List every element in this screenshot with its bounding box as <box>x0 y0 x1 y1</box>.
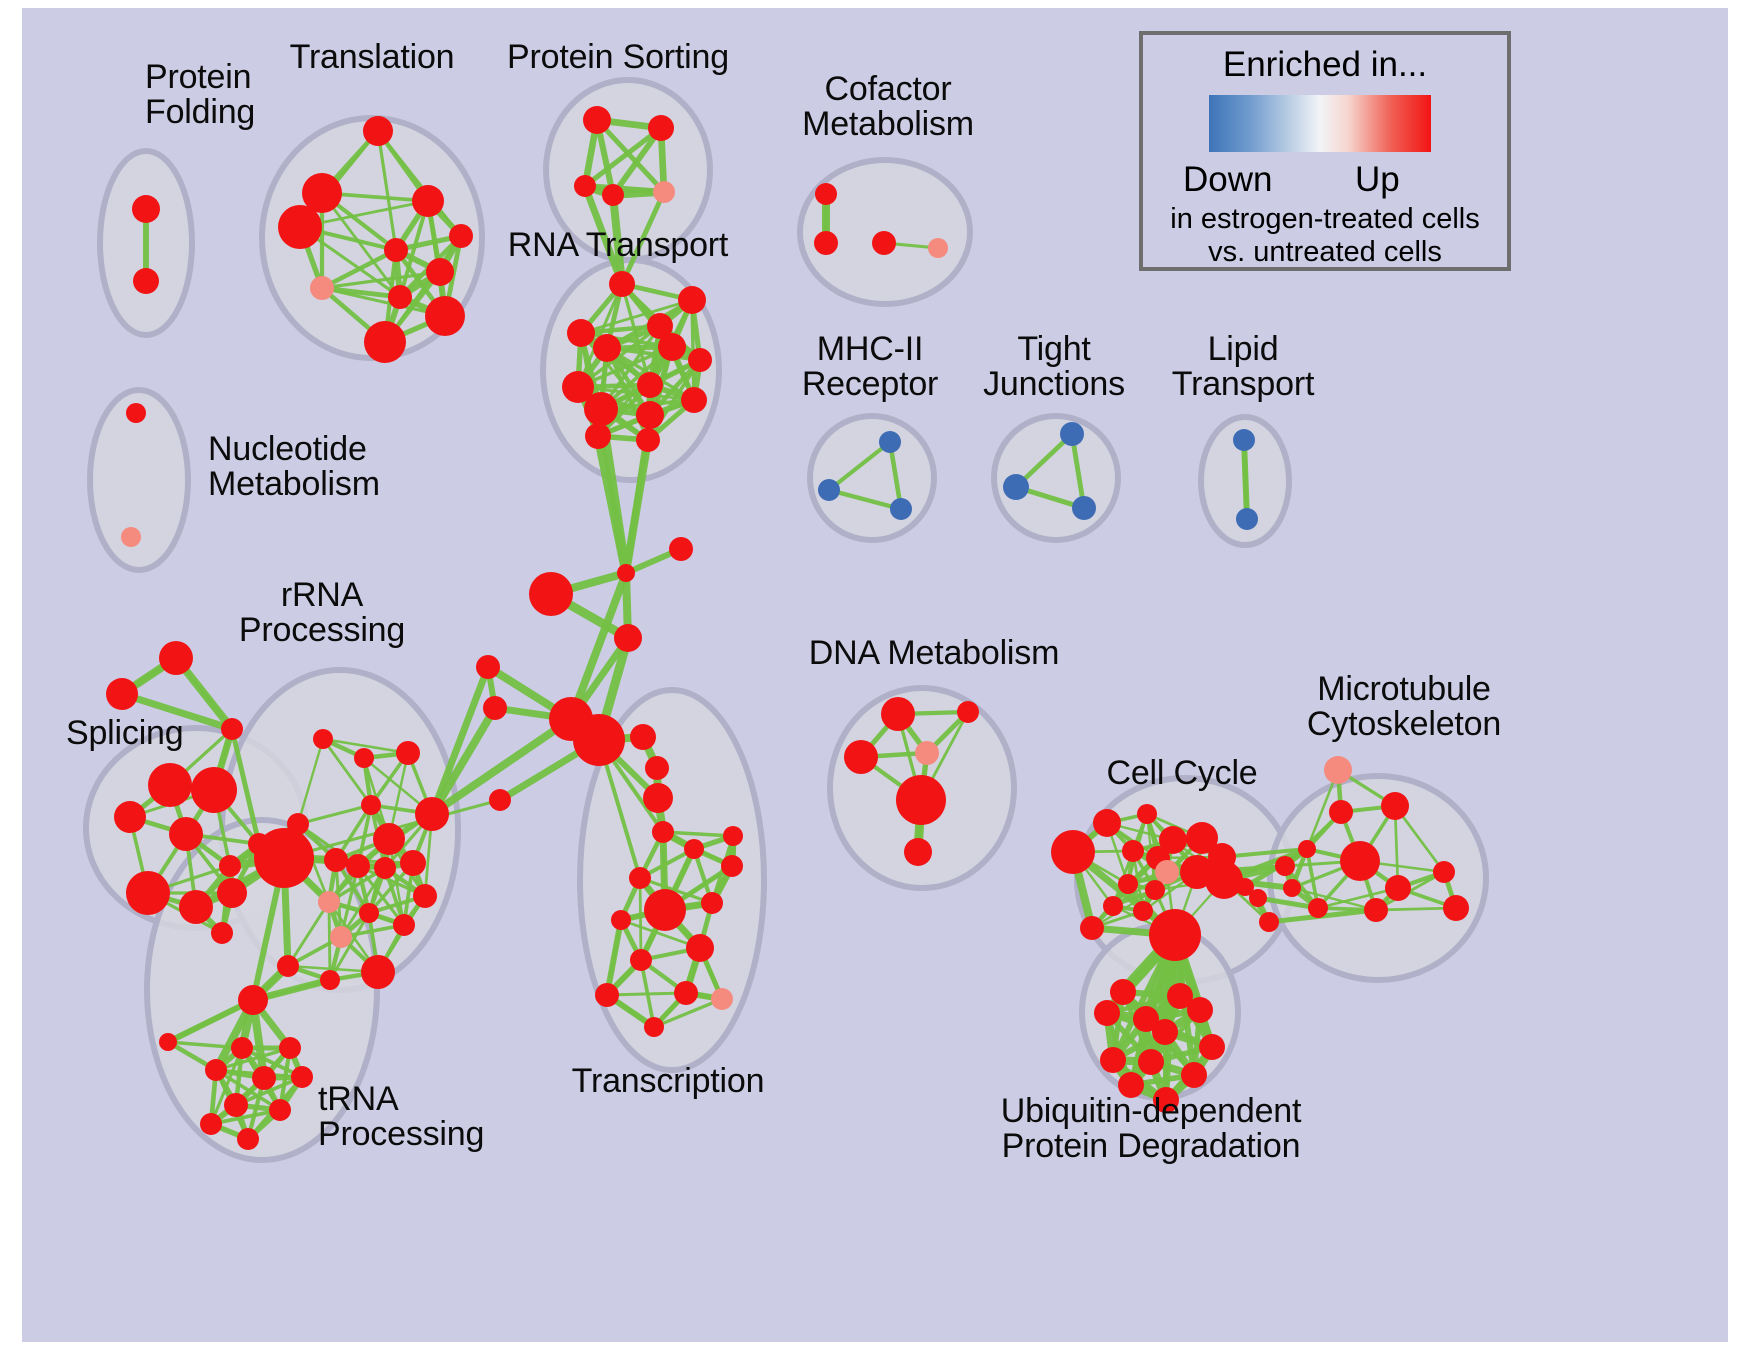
network-node[interactable] <box>126 403 146 423</box>
cluster-label-cofactor-metabolism: Cofactor Metabolism <box>802 72 974 143</box>
network-node[interactable] <box>711 988 733 1010</box>
network-node[interactable] <box>872 231 896 255</box>
network-node[interactable] <box>611 910 631 930</box>
network-node[interactable] <box>1137 804 1157 824</box>
network-node[interactable] <box>915 741 939 765</box>
network-node[interactable] <box>1051 830 1095 874</box>
network-node[interactable] <box>723 826 743 846</box>
cluster-label-tight-junctions: Tight Junctions <box>983 332 1125 403</box>
network-node[interactable] <box>1152 1019 1178 1045</box>
cluster-ellipse-mhc-ii-receptor[interactable] <box>810 416 934 540</box>
network-node[interactable] <box>374 857 396 879</box>
network-node[interactable] <box>1094 1000 1120 1026</box>
network-node[interactable] <box>1003 474 1029 500</box>
network-node[interactable] <box>313 729 333 749</box>
network-node[interactable] <box>593 334 621 362</box>
network-node[interactable] <box>133 268 159 294</box>
network-node[interactable] <box>643 783 673 813</box>
network-node[interactable] <box>879 431 901 453</box>
network-node[interactable] <box>252 1066 276 1090</box>
network-node[interactable] <box>364 321 406 363</box>
network-node[interactable] <box>373 823 405 855</box>
network-node[interactable] <box>1385 875 1411 901</box>
network-node[interactable] <box>529 572 573 616</box>
network-node[interactable] <box>1324 756 1352 784</box>
network-node[interactable] <box>609 271 635 297</box>
network-node[interactable] <box>1110 979 1136 1005</box>
network-node[interactable] <box>1118 874 1138 894</box>
network-node[interactable] <box>1093 809 1121 837</box>
network-node[interactable] <box>684 839 704 859</box>
network-node[interactable] <box>686 934 714 962</box>
network-node[interactable] <box>957 701 979 723</box>
network-node[interactable] <box>1072 496 1096 520</box>
network-node[interactable] <box>1433 861 1455 883</box>
network-node[interactable] <box>126 871 170 915</box>
network-node[interactable] <box>1155 860 1179 884</box>
network-node[interactable] <box>1133 901 1153 921</box>
network-node[interactable] <box>595 983 619 1007</box>
network-node[interactable] <box>896 775 946 825</box>
network-node[interactable] <box>254 828 314 888</box>
network-node[interactable] <box>393 914 415 936</box>
network-node[interactable] <box>237 1128 259 1150</box>
network-node[interactable] <box>425 296 465 336</box>
network-node[interactable] <box>159 641 193 675</box>
network-node[interactable] <box>1364 898 1388 922</box>
network-node[interactable] <box>412 185 444 217</box>
network-node[interactable] <box>881 697 915 731</box>
network-edge <box>1244 440 1247 519</box>
network-node[interactable] <box>291 1066 313 1088</box>
network-node[interactable] <box>388 285 412 309</box>
network-node[interactable] <box>211 922 233 944</box>
network-node[interactable] <box>1381 792 1409 820</box>
network-node[interactable] <box>630 724 656 750</box>
network-node[interactable] <box>384 238 408 262</box>
network-node[interactable] <box>669 537 693 561</box>
legend-low-label: Down <box>1183 160 1272 200</box>
network-node[interactable] <box>573 714 625 766</box>
network-node[interactable] <box>483 696 507 720</box>
network-node[interactable] <box>602 184 624 206</box>
network-node[interactable] <box>1138 1049 1164 1075</box>
network-node[interactable] <box>584 392 618 426</box>
network-node[interactable] <box>231 1037 253 1059</box>
network-node[interactable] <box>636 428 660 452</box>
network-node[interactable] <box>310 276 334 300</box>
network-node[interactable] <box>359 903 379 923</box>
cluster-label-ubiquitin-degradation: Ubiquitin-dependent Protein Degradation <box>1001 1094 1302 1165</box>
legend-title: Enriched in... <box>1143 45 1507 85</box>
network-node[interactable] <box>1181 1062 1207 1088</box>
cluster-label-protein-folding: Protein Folding <box>145 60 255 131</box>
cluster-label-rna-transport: RNA Transport <box>508 228 728 263</box>
network-node[interactable] <box>363 116 393 146</box>
network-node[interactable] <box>279 1037 301 1059</box>
cluster-label-microtubule-cytoskeleton: Microtubule Cytoskeleton <box>1307 672 1501 743</box>
network-node[interactable] <box>489 789 511 811</box>
network-node[interactable] <box>191 767 237 813</box>
legend-box: Enriched in... Down Up in estrogen-treat… <box>1139 31 1511 271</box>
network-node[interactable] <box>637 372 663 398</box>
network-node[interactable] <box>1283 879 1301 897</box>
network-node[interactable] <box>413 884 437 908</box>
network-node[interactable] <box>148 763 192 807</box>
network-node[interactable] <box>217 878 247 908</box>
cluster-label-splicing: Splicing <box>66 716 183 751</box>
network-node[interactable] <box>701 892 723 914</box>
network-figure: Protein FoldingTranslationProtein Sortin… <box>0 0 1750 1360</box>
network-node[interactable] <box>1187 997 1213 1023</box>
network-node[interactable] <box>1122 840 1144 862</box>
network-node[interactable] <box>818 479 840 501</box>
network-node[interactable] <box>658 333 686 361</box>
network-node[interactable] <box>678 286 706 314</box>
network-node[interactable] <box>361 795 381 815</box>
network-node[interactable] <box>1329 800 1353 824</box>
cluster-label-rrna-processing: rRNA Processing <box>239 578 405 649</box>
network-node[interactable] <box>1340 841 1380 881</box>
network-node[interactable] <box>1100 1047 1126 1073</box>
network-node[interactable] <box>653 181 675 203</box>
network-node[interactable] <box>106 678 138 710</box>
network-node[interactable] <box>318 891 340 913</box>
network-node[interactable] <box>132 195 160 223</box>
network-node[interactable] <box>169 817 203 851</box>
network-node[interactable] <box>617 564 635 582</box>
network-node[interactable] <box>585 423 611 449</box>
network-node[interactable] <box>814 231 838 255</box>
network-edge <box>640 878 641 960</box>
network-node[interactable] <box>200 1113 222 1135</box>
legend-caption-line2: vs. untreated cells <box>1143 236 1507 269</box>
cluster-label-protein-sorting: Protein Sorting <box>507 40 729 75</box>
network-node[interactable] <box>1080 916 1104 940</box>
network-node[interactable] <box>644 889 686 931</box>
network-node[interactable] <box>721 855 743 877</box>
network-node[interactable] <box>415 797 449 831</box>
network-node[interactable] <box>1145 880 1165 900</box>
network-node[interactable] <box>269 1099 291 1121</box>
network-node[interactable] <box>330 926 352 948</box>
network-node[interactable] <box>219 855 241 877</box>
network-node[interactable] <box>221 718 243 740</box>
network-node[interactable] <box>928 238 948 258</box>
network-node[interactable] <box>636 401 664 429</box>
network-node[interactable] <box>688 348 712 372</box>
network-node[interactable] <box>205 1059 227 1081</box>
network-node[interactable] <box>278 205 322 249</box>
network-node[interactable] <box>277 955 299 977</box>
network-node[interactable] <box>1249 889 1267 907</box>
cluster-label-translation: Translation <box>290 40 455 75</box>
network-node[interactable] <box>1259 912 1279 932</box>
network-node[interactable] <box>224 1093 248 1117</box>
network-node[interactable] <box>630 949 652 971</box>
network-node[interactable] <box>815 183 837 205</box>
network-node[interactable] <box>1149 909 1201 961</box>
network-node[interactable] <box>114 801 146 833</box>
network-node[interactable] <box>121 527 141 547</box>
network-node[interactable] <box>1103 896 1123 916</box>
network-node[interactable] <box>1308 898 1328 918</box>
cluster-label-trna-processing: tRNA Processing <box>318 1082 484 1153</box>
network-node[interactable] <box>629 867 651 889</box>
network-node[interactable] <box>681 387 707 413</box>
network-node[interactable] <box>238 985 268 1015</box>
network-node[interactable] <box>648 115 674 141</box>
network-node[interactable] <box>1233 429 1255 451</box>
network-node[interactable] <box>1060 422 1084 446</box>
network-node[interactable] <box>324 848 348 872</box>
legend-caption-line1: in estrogen-treated cells <box>1143 203 1507 236</box>
network-node[interactable] <box>354 748 374 768</box>
cluster-label-dna-metabolism: DNA Metabolism <box>809 636 1059 671</box>
network-node[interactable] <box>361 955 395 989</box>
network-node[interactable] <box>476 655 500 679</box>
network-node[interactable] <box>159 1033 177 1051</box>
network-node[interactable] <box>1443 895 1469 921</box>
network-node[interactable] <box>1199 1034 1225 1060</box>
network-node[interactable] <box>426 258 454 286</box>
legend-high-label: Up <box>1355 160 1400 200</box>
network-node[interactable] <box>674 981 698 1005</box>
network-node[interactable] <box>574 175 596 197</box>
network-node[interactable] <box>320 970 340 990</box>
color-scale-bar <box>1209 95 1431 152</box>
network-node[interactable] <box>1236 508 1258 530</box>
cluster-label-nucleotide-metabolism: Nucleotide Metabolism <box>208 432 380 503</box>
network-node[interactable] <box>346 854 370 878</box>
network-node[interactable] <box>645 756 669 780</box>
network-node[interactable] <box>1275 856 1295 876</box>
cluster-label-transcription: Transcription <box>572 1064 765 1099</box>
network-node[interactable] <box>396 741 420 765</box>
network-node[interactable] <box>583 106 611 134</box>
network-node[interactable] <box>652 821 674 843</box>
network-node[interactable] <box>614 624 642 652</box>
network-node[interactable] <box>179 890 213 924</box>
network-node[interactable] <box>844 740 878 774</box>
network-node[interactable] <box>890 498 912 520</box>
network-node[interactable] <box>1205 861 1243 899</box>
cluster-label-cell-cycle: Cell Cycle <box>1106 756 1257 791</box>
network-node[interactable] <box>644 1017 664 1037</box>
cluster-label-lipid-transport: Lipid Transport <box>1172 332 1314 403</box>
cluster-label-mhc-ii-receptor: MHC-II Receptor <box>802 332 938 403</box>
network-node[interactable] <box>400 850 426 876</box>
network-node[interactable] <box>904 838 932 866</box>
network-node[interactable] <box>567 319 595 347</box>
network-node[interactable] <box>1298 840 1316 858</box>
network-node[interactable] <box>449 224 473 248</box>
